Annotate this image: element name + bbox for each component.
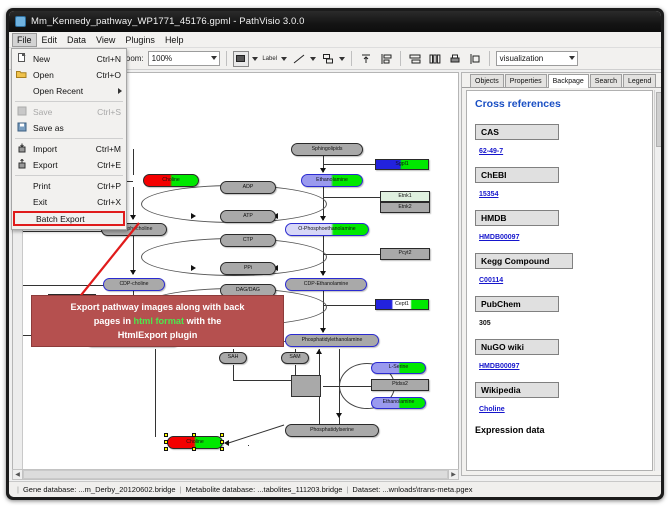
status-sep-1: | bbox=[176, 485, 186, 494]
menu-item-save-as[interactable]: Save as bbox=[12, 120, 126, 136]
stack-icon[interactable] bbox=[467, 51, 483, 67]
node-label: SAM bbox=[289, 355, 300, 360]
xref-nugo: NuGO wiki HMDB00097 bbox=[475, 339, 644, 373]
xref-cas-label: CAS bbox=[475, 124, 559, 140]
xref-hmdb-value[interactable]: HMDB00097 bbox=[475, 231, 519, 241]
menu-item-open-accel: Ctrl+O bbox=[96, 70, 126, 80]
chevron-down-icon-2 bbox=[569, 56, 575, 60]
xref-chebi-label: ChEBI bbox=[475, 167, 559, 183]
status-sep-0: | bbox=[13, 485, 23, 494]
chevron-right-icon bbox=[118, 88, 122, 94]
edge-to-sgpl1 bbox=[323, 164, 375, 165]
reaction-node-box bbox=[291, 375, 321, 397]
handle-w bbox=[164, 440, 168, 444]
handle-n bbox=[192, 433, 196, 437]
menu-item-open[interactable]: Open Ctrl+O bbox=[12, 67, 126, 83]
status-dataset: Dataset: ...wnloads\trans-meta.pgex bbox=[352, 485, 472, 494]
backpage-content: Cross references CAS 62-49-7 ChEBI 15354… bbox=[466, 90, 653, 471]
xref-chebi: ChEBI 15354 bbox=[475, 167, 644, 201]
menu-item-save-accel: Ctrl+S bbox=[97, 107, 126, 117]
node-cdp-ethanolamine[interactable]: CDP-Ethanolamine bbox=[285, 278, 367, 291]
handle-sw bbox=[164, 447, 168, 451]
node-l-serine[interactable]: L-Serine bbox=[371, 362, 426, 374]
node-label: Cept1 bbox=[395, 302, 409, 307]
node-atp[interactable]: ATP bbox=[220, 210, 276, 223]
window-title: Mm_Kennedy_pathway_WP1771_45176.gpml - P… bbox=[31, 16, 305, 27]
visualization-combobox[interactable]: visualization bbox=[496, 51, 578, 66]
menu-item-save-label: Save bbox=[29, 107, 97, 117]
xref-wikipedia-label: Wikipedia bbox=[475, 382, 559, 398]
import-icon bbox=[14, 143, 29, 155]
cross-references-heading: Cross references bbox=[475, 98, 644, 110]
menu-view[interactable]: View bbox=[91, 33, 120, 47]
menu-item-print[interactable]: Print Ctrl+P bbox=[12, 178, 126, 194]
menu-item-exit-label: Exit bbox=[29, 197, 97, 207]
menu-item-save-as-label: Save as bbox=[29, 123, 121, 133]
node-label: Sphingolipids bbox=[312, 147, 343, 152]
scroll-right-icon[interactable]: ▶ bbox=[448, 470, 458, 479]
arrow-sphingo-down bbox=[320, 168, 326, 173]
scrollbar-thumb[interactable] bbox=[656, 92, 661, 147]
node-label: ADP bbox=[243, 185, 254, 190]
xref-wikipedia: Wikipedia Choline bbox=[475, 382, 644, 416]
node-label: Phosphatidylethanolamine bbox=[302, 338, 363, 343]
status-gene-database: Gene database: ...m_Derby_20120602.bridg… bbox=[23, 485, 176, 494]
menu-item-open-label: Open bbox=[29, 70, 96, 80]
node-label: CTP bbox=[243, 238, 253, 243]
tab-objects[interactable]: Objects bbox=[470, 74, 504, 87]
node-etnk2[interactable]: Etnk2 bbox=[380, 202, 430, 213]
callout-line-2a: pages in bbox=[94, 316, 134, 326]
xref-chebi-value[interactable]: 15354 bbox=[475, 188, 498, 198]
menu-item-import-accel: Ctrl+M bbox=[96, 144, 126, 154]
side-panel: Objects Properties Backpage Search Legen… bbox=[461, 72, 661, 476]
window-inner: Mm_Kennedy_pathway_WP1771_45176.gpml - P… bbox=[9, 11, 661, 497]
label-dropdown-icon[interactable] bbox=[281, 57, 287, 61]
node-ptdss2[interactable]: Ptdss2 bbox=[371, 379, 429, 391]
menu-item-open-recent[interactable]: Open Recent bbox=[12, 83, 126, 99]
node-phosphatidylserine[interactable]: Phosphatidylserine bbox=[285, 424, 379, 437]
menu-separator-2 bbox=[15, 138, 123, 139]
save-as-icon bbox=[14, 122, 29, 134]
datanode-dropdown-icon[interactable] bbox=[252, 57, 258, 61]
node-choline-top[interactable]: Choline bbox=[143, 174, 199, 187]
handle-se bbox=[220, 447, 224, 451]
menu-item-batch-export-label: Batch Export bbox=[32, 214, 123, 224]
align-group-icon[interactable] bbox=[407, 51, 423, 67]
xref-cas-value[interactable]: 62-49-7 bbox=[475, 145, 503, 155]
node-sgpl1[interactable]: Sgpl1 bbox=[375, 159, 429, 170]
arrow-etn-down bbox=[320, 216, 326, 221]
menu-item-save[interactable]: Save Ctrl+S bbox=[12, 104, 126, 120]
shape-tool-icon[interactable] bbox=[320, 51, 336, 67]
print-icon[interactable] bbox=[447, 51, 463, 67]
toolbar-separator-2 bbox=[351, 51, 352, 66]
tab-search[interactable]: Search bbox=[590, 74, 622, 87]
line-dropdown-icon[interactable] bbox=[310, 57, 316, 61]
node-ctp[interactable]: CTP bbox=[220, 234, 276, 247]
xref-cas: CAS 62-49-7 bbox=[475, 124, 644, 158]
new-file-icon bbox=[14, 53, 29, 65]
xref-hmdb: HMDB HMDB00097 bbox=[475, 210, 644, 244]
handle-e bbox=[220, 440, 224, 444]
visualization-value: visualization bbox=[500, 54, 544, 63]
toolbar-separator-4 bbox=[489, 51, 490, 66]
status-sep-2: | bbox=[342, 485, 352, 494]
node-cept1[interactable]: Cept1 bbox=[375, 299, 429, 310]
edge-choline-bottom bbox=[227, 424, 284, 444]
node-label: ATP bbox=[243, 214, 253, 219]
node-label: Etnk2 bbox=[398, 205, 411, 210]
node-label: L-Serine bbox=[389, 365, 409, 370]
xref-kegg: Kegg Compound C00114 bbox=[475, 253, 644, 287]
toolbar-separator bbox=[226, 51, 227, 66]
xref-pubchem-label: PubChem bbox=[475, 296, 559, 312]
screenshot-root: Mm_Kennedy_pathway_WP1771_45176.gpml - P… bbox=[0, 0, 670, 509]
menu-separator-1 bbox=[15, 101, 123, 102]
node-label: Etnk1 bbox=[398, 194, 411, 199]
side-panel-tabs: Objects Properties Backpage Search Legen… bbox=[462, 73, 661, 88]
zoom-value: 100% bbox=[152, 54, 172, 63]
edge-sah-down bbox=[233, 365, 234, 381]
xref-pubchem: PubChem 305 bbox=[475, 296, 644, 330]
canvas-hscrollbar[interactable]: ◀ ▶ bbox=[12, 469, 459, 480]
node-label: PPi bbox=[244, 266, 252, 271]
scroll-left-icon[interactable]: ◀ bbox=[13, 470, 23, 479]
xref-kegg-value[interactable]: C00114 bbox=[475, 274, 503, 284]
annotation-callout: Export pathway images along with back pa… bbox=[31, 295, 284, 347]
arrow-pe-to-ps bbox=[336, 413, 342, 418]
menu-item-new-accel: Ctrl+N bbox=[97, 54, 126, 64]
datanode-tool-icon[interactable] bbox=[233, 51, 249, 67]
menu-data[interactable]: Data bbox=[62, 33, 91, 47]
node-etnk1[interactable]: Etnk1 bbox=[380, 191, 430, 202]
edge-sah-sam-bridge bbox=[233, 380, 295, 381]
handle-ne bbox=[220, 433, 224, 437]
xref-wikipedia-value[interactable]: Choline bbox=[475, 403, 505, 413]
pathvisio-icon bbox=[15, 16, 26, 27]
node-adp[interactable]: ADP bbox=[220, 181, 276, 194]
arrow-choline-bottom bbox=[224, 440, 229, 446]
node-label: Ethanolamine bbox=[316, 178, 348, 183]
menu-item-import-label: Import bbox=[29, 144, 96, 154]
menu-bar: File Edit Data View Plugins Help bbox=[9, 32, 661, 48]
node-label: Phosphatidylserine bbox=[310, 428, 354, 433]
xref-pubchem-value: 305 bbox=[475, 317, 491, 327]
file-menu-dropdown: New Ctrl+N Open Ctrl+O Open Recent bbox=[11, 48, 127, 230]
arrow-cdpethn-down bbox=[320, 328, 326, 333]
line-tool-icon[interactable] bbox=[291, 51, 307, 67]
hscroll-track[interactable] bbox=[23, 470, 448, 479]
edge-to-etnk bbox=[323, 197, 380, 198]
menu-item-export-accel: Ctrl+E bbox=[97, 160, 126, 170]
node-label: Choline bbox=[186, 440, 204, 445]
menu-item-import[interactable]: Import Ctrl+M bbox=[12, 141, 126, 157]
save-icon bbox=[14, 106, 29, 118]
edge-spacer bbox=[248, 445, 249, 446]
xref-hmdb-label: HMDB bbox=[475, 210, 559, 226]
menu-item-new[interactable]: New Ctrl+N bbox=[12, 51, 126, 67]
menu-item-print-label: Print bbox=[29, 181, 97, 191]
menu-edit[interactable]: Edit bbox=[37, 33, 63, 47]
xref-kegg-label: Kegg Compound bbox=[475, 253, 573, 269]
export-icon bbox=[14, 159, 29, 171]
label-tool-icon[interactable]: Label bbox=[262, 51, 278, 67]
node-sam[interactable]: SAM bbox=[281, 352, 309, 364]
menu-item-exit-accel: Ctrl+X bbox=[97, 197, 126, 207]
tab-legend[interactable]: Legend bbox=[623, 74, 656, 87]
menu-item-export[interactable]: Export Ctrl+E bbox=[12, 157, 126, 173]
annotation-arrow bbox=[23, 213, 223, 373]
menu-item-new-label: New bbox=[29, 54, 97, 64]
xref-nugo-value[interactable]: HMDB00097 bbox=[475, 360, 519, 370]
node-label: SAH bbox=[228, 355, 239, 360]
side-panel-scrollbar[interactable] bbox=[654, 90, 661, 471]
title-bar: Mm_Kennedy_pathway_WP1771_45176.gpml - P… bbox=[9, 11, 661, 32]
menu-item-batch-export[interactable]: Batch Export bbox=[13, 211, 125, 226]
menu-item-export-label: Export bbox=[29, 160, 97, 170]
align-left-icon[interactable] bbox=[378, 51, 394, 67]
menu-separator-3 bbox=[15, 175, 123, 176]
callout-line-3: HtmlExport plugin bbox=[70, 328, 244, 342]
shape-dropdown-icon[interactable] bbox=[339, 57, 345, 61]
node-sah[interactable]: SAH bbox=[219, 352, 247, 364]
handle-s bbox=[192, 447, 196, 451]
menu-plugins[interactable]: Plugins bbox=[120, 33, 160, 47]
align-top-icon[interactable] bbox=[358, 51, 374, 67]
tab-backpage[interactable]: Backpage bbox=[548, 74, 589, 88]
node-sphingolipids[interactable]: Sphingolipids bbox=[291, 143, 363, 156]
arrow-pethn-down bbox=[320, 271, 326, 276]
node-pcyt2[interactable]: Pcyt2 bbox=[380, 248, 430, 260]
application-window: Mm_Kennedy_pathway_WP1771_45176.gpml - P… bbox=[6, 8, 664, 500]
callout-line-1: Export pathway images along with back bbox=[70, 300, 244, 314]
edge-choline-vert-top bbox=[133, 149, 134, 175]
arrow-ps-to-pe bbox=[316, 349, 322, 354]
menu-file[interactable]: File bbox=[12, 33, 37, 47]
expression-data-heading: Expression data bbox=[475, 425, 644, 435]
edge-to-pcyt2 bbox=[323, 254, 380, 255]
tab-properties[interactable]: Properties bbox=[505, 74, 547, 87]
node-label: Ptdss2 bbox=[392, 382, 408, 387]
node-ppi[interactable]: PPi bbox=[220, 262, 276, 275]
node-label: Ethanolamine bbox=[383, 400, 415, 405]
node-label: Sgpl1 bbox=[395, 162, 408, 167]
node-o-phosphoethanolamine[interactable]: O-Phosphoethanolamine bbox=[285, 223, 369, 236]
callout-line-2: pages in html format with the bbox=[70, 314, 244, 328]
node-phosphatidylethanolamine[interactable]: Phosphatidylethanolamine bbox=[285, 334, 379, 347]
handle-nw bbox=[164, 433, 168, 437]
edge-to-cept1 bbox=[323, 305, 375, 306]
distribute-icon[interactable] bbox=[427, 51, 443, 67]
chevron-down-icon bbox=[211, 56, 217, 60]
status-metabolite-database: Metabolite database: ...tabolites_111203… bbox=[186, 485, 343, 494]
status-bar: | Gene database: ...m_Derby_20120602.bri… bbox=[9, 481, 661, 497]
node-label: CDP-Ethanolamine bbox=[304, 282, 348, 287]
xref-nugo-label: NuGO wiki bbox=[475, 339, 559, 355]
open-folder-icon bbox=[14, 70, 29, 81]
menu-item-exit[interactable]: Exit Ctrl+X bbox=[12, 194, 126, 210]
zoom-combobox[interactable]: 100% bbox=[148, 51, 220, 66]
node-ethanolamine-top[interactable]: Ethanolamine bbox=[301, 174, 363, 187]
toolbar-separator-3 bbox=[400, 51, 401, 66]
menu-item-print-accel: Ctrl+P bbox=[97, 181, 126, 191]
node-label: O-Phosphoethanolamine bbox=[298, 227, 355, 232]
node-ethanolamine-bottom[interactable]: Ethanolamine bbox=[371, 397, 426, 409]
callout-line-2b: with the bbox=[184, 316, 221, 326]
node-label: Pcyt2 bbox=[399, 251, 412, 256]
node-label: DAG/DAG bbox=[236, 288, 260, 293]
node-label: Choline bbox=[162, 178, 180, 183]
edge-to-ptdss2 bbox=[323, 386, 375, 387]
menu-item-open-recent-label: Open Recent bbox=[29, 86, 126, 96]
menu-help[interactable]: Help bbox=[160, 33, 189, 47]
callout-highlight: html format bbox=[134, 316, 185, 326]
